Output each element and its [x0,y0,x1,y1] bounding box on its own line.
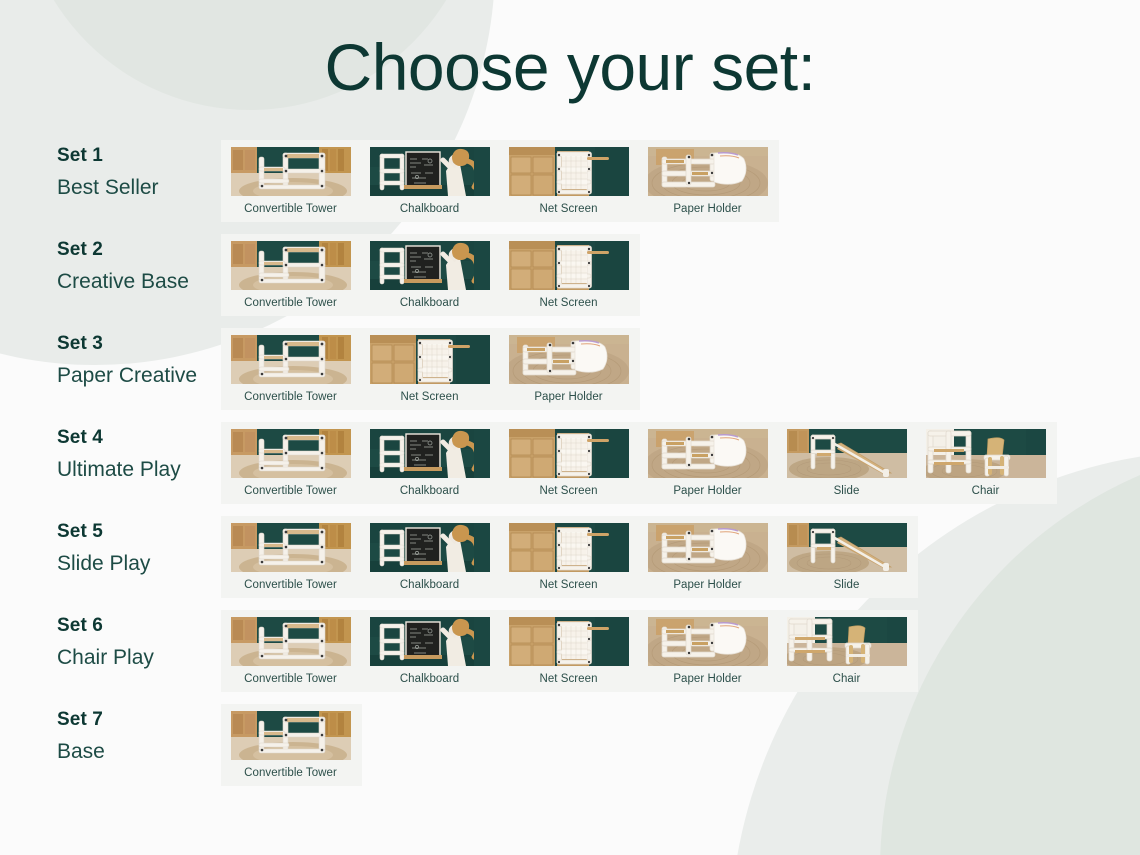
set-item-label: Convertible Tower [244,579,337,591]
set-row-labels: Set 5Slide Play [57,521,227,576]
paper-holder-thumbnail[interactable] [509,335,629,384]
set-row-labels: Set 1Best Seller [57,145,227,200]
set-name: Base [57,740,227,764]
paper-holder-thumbnail[interactable] [648,523,768,572]
set-name: Paper Creative [57,364,227,388]
net-screen-thumbnail[interactable] [509,241,629,290]
set-row[interactable]: Set 5Slide Play [0,516,1140,610]
set-item-label: Chalkboard [400,579,459,591]
set-row[interactable]: Set 2Creative Base [0,234,1140,328]
chalkboard-thumbnail[interactable] [370,241,490,290]
set-item[interactable]: Convertible Tower [221,523,360,591]
chalkboard-thumbnail[interactable] [370,429,490,478]
slide-thumbnail[interactable] [787,523,907,572]
set-item-label: Net Screen [539,203,597,215]
set-name: Best Seller [57,176,227,200]
set-item-label: Convertible Tower [244,767,337,779]
chalkboard-thumbnail[interactable] [370,147,490,196]
convertible-tower-thumbnail[interactable] [231,147,351,196]
net-screen-thumbnail[interactable] [509,523,629,572]
set-row-labels: Set 4Ultimate Play [57,427,227,482]
set-row[interactable]: Set 7Base [0,704,1140,798]
set-item[interactable]: Chalkboard [360,147,499,215]
set-item-label: Net Screen [539,673,597,685]
set-name: Ultimate Play [57,458,227,482]
set-item[interactable]: Net Screen [499,617,638,685]
set-item[interactable]: Net Screen [499,241,638,309]
set-item[interactable]: Chair [777,617,916,685]
set-item-label: Chalkboard [400,673,459,685]
slide-thumbnail[interactable] [787,429,907,478]
convertible-tower-thumbnail[interactable] [231,429,351,478]
set-item[interactable]: Chair [916,429,1055,497]
poster-root: Choose your set: Set 1Best Seller [0,0,1140,855]
set-item[interactable]: Convertible Tower [221,147,360,215]
set-item-label: Paper Holder [673,579,741,591]
set-number: Set 6 [57,615,227,637]
set-item[interactable]: Paper Holder [638,429,777,497]
set-item-label: Convertible Tower [244,485,337,497]
set-item-label: Paper Holder [673,203,741,215]
set-item[interactable]: Net Screen [499,147,638,215]
set-name: Creative Base [57,270,227,294]
chalkboard-thumbnail[interactable] [370,523,490,572]
set-item[interactable]: Convertible Tower [221,241,360,309]
set-items-panel: Convertible Tower [221,704,362,786]
page-title: Choose your set: [0,34,1140,100]
set-item[interactable]: Paper Holder [638,523,777,591]
set-item-label: Chalkboard [400,297,459,309]
paper-holder-thumbnail[interactable] [648,617,768,666]
set-item[interactable]: Paper Holder [638,147,777,215]
set-item-label: Net Screen [539,485,597,497]
set-item[interactable]: Net Screen [499,429,638,497]
set-item-label: Paper Holder [534,391,602,403]
set-item[interactable]: Convertible Tower [221,335,360,403]
set-items-panel: Convertible Tower [221,234,640,316]
set-items-panel: Convertible Tower [221,328,640,410]
set-number: Set 5 [57,521,227,543]
convertible-tower-thumbnail[interactable] [231,523,351,572]
set-item[interactable]: Net Screen [360,335,499,403]
net-screen-thumbnail[interactable] [509,147,629,196]
set-item-label: Paper Holder [673,485,741,497]
convertible-tower-thumbnail[interactable] [231,711,351,760]
set-number: Set 4 [57,427,227,449]
net-screen-thumbnail[interactable] [509,429,629,478]
set-item-label: Slide [834,485,860,497]
set-item-label: Convertible Tower [244,391,337,403]
set-row[interactable]: Set 1Best Seller [0,140,1140,234]
net-screen-thumbnail[interactable] [370,335,490,384]
set-items-panel: Convertible Tower [221,610,918,692]
set-row[interactable]: Set 4Ultimate Play [0,422,1140,516]
set-number: Set 1 [57,145,227,167]
set-item[interactable]: Paper Holder [638,617,777,685]
chalkboard-thumbnail[interactable] [370,617,490,666]
convertible-tower-thumbnail[interactable] [231,241,351,290]
set-number: Set 7 [57,709,227,731]
chair-thumbnail[interactable] [787,617,907,666]
set-name: Chair Play [57,646,227,670]
paper-holder-thumbnail[interactable] [648,147,768,196]
set-item-label: Chalkboard [400,485,459,497]
set-item-label: Net Screen [539,297,597,309]
set-item-label: Net Screen [539,579,597,591]
paper-holder-thumbnail[interactable] [648,429,768,478]
set-item-label: Net Screen [400,391,458,403]
set-number: Set 3 [57,333,227,355]
chair-thumbnail[interactable] [926,429,1046,478]
set-item-label: Chalkboard [400,203,459,215]
set-item[interactable]: Chalkboard [360,617,499,685]
set-row-labels: Set 7Base [57,709,227,764]
set-item[interactable]: Slide [777,429,916,497]
set-items-panel: Convertible Tower [221,422,1057,504]
set-item-label: Chair [833,673,861,685]
set-item[interactable]: Net Screen [499,523,638,591]
set-number: Set 2 [57,239,227,261]
set-item[interactable]: Chalkboard [360,523,499,591]
set-item-label: Slide [834,579,860,591]
set-item-label: Paper Holder [673,673,741,685]
set-item[interactable]: Slide [777,523,916,591]
set-row[interactable]: Set 3Paper Creative [0,328,1140,422]
set-list: Set 1Best Seller [0,140,1140,798]
set-item[interactable]: Chalkboard [360,429,499,497]
set-item-label: Chair [972,485,1000,497]
set-row[interactable]: Set 6Chair Play [0,610,1140,704]
set-item-label: Convertible Tower [244,673,337,685]
set-item[interactable]: Paper Holder [499,335,638,403]
set-row-labels: Set 3Paper Creative [57,333,227,388]
set-name: Slide Play [57,552,227,576]
convertible-tower-thumbnail[interactable] [231,617,351,666]
set-item[interactable]: Convertible Tower [221,711,360,779]
convertible-tower-thumbnail[interactable] [231,335,351,384]
set-items-panel: Convertible Tower [221,516,918,598]
set-item-label: Convertible Tower [244,297,337,309]
set-item[interactable]: Convertible Tower [221,617,360,685]
set-row-labels: Set 2Creative Base [57,239,227,294]
set-item[interactable]: Convertible Tower [221,429,360,497]
net-screen-thumbnail[interactable] [509,617,629,666]
set-items-panel: Convertible Tower [221,140,779,222]
set-item[interactable]: Chalkboard [360,241,499,309]
set-item-label: Convertible Tower [244,203,337,215]
set-row-labels: Set 6Chair Play [57,615,227,670]
